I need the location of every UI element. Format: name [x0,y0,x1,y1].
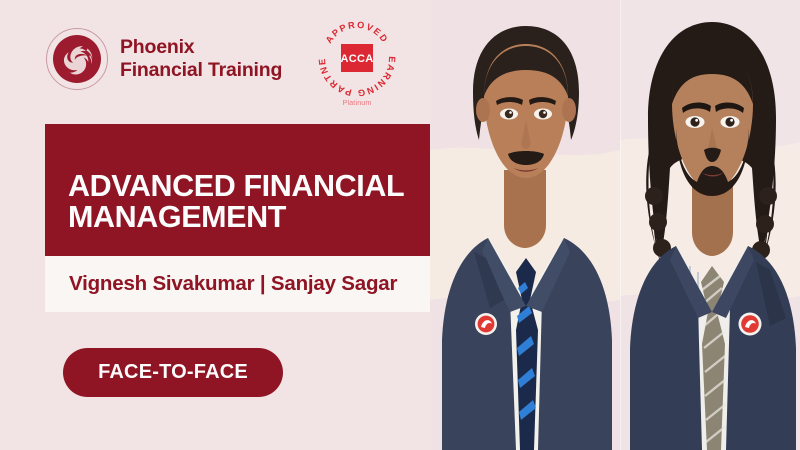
acca-seal-glyph: APPROVED LEARNING PARTNER ACCA [313,14,401,102]
instructor-band: Vignesh Sivakumar | Sanjay Sagar [45,256,430,312]
instructor-names: Vignesh Sivakumar | Sanjay Sagar [69,272,397,296]
svg-text:APPROVED: APPROVED [324,20,391,45]
delivery-mode-badge[interactable]: FACE-TO-FACE [63,348,283,397]
promo-banner: Phoenix Financial Training APPROVED LEAR… [0,0,800,450]
photo-seam-divider [620,0,621,450]
portrait-photo-instructor-2 [620,0,800,450]
acca-tier-label: Platinum [313,100,401,107]
portrait-2-artwork [620,0,800,450]
phoenix-bird-icon [46,28,108,90]
left-content-panel: Phoenix Financial Training APPROVED LEAR… [0,0,470,450]
brand-name-line-2: Financial Training [120,59,282,81]
course-title-line-2: MANAGEMENT [68,202,426,234]
instructor-photo-panel [430,0,800,450]
acca-arc-top-text: APPROVED [324,20,391,45]
brand-name-line-1: Phoenix [120,36,194,58]
brand-lockup[interactable]: Phoenix Financial Training [46,28,282,90]
portrait-1-artwork [430,0,620,450]
brand-name: Phoenix Financial Training [120,36,282,82]
course-title-banner: ADVANCED FINANCIAL MANAGEMENT [45,124,436,256]
acca-center-label: ACCA [341,53,374,65]
delivery-mode-label: FACE-TO-FACE [98,361,248,384]
course-title-line-1: ADVANCED FINANCIAL [68,171,426,203]
course-title: ADVANCED FINANCIAL MANAGEMENT [68,171,426,234]
phoenix-bird-glyph [53,35,101,83]
acca-approved-learning-partner-seal-icon: APPROVED LEARNING PARTNER ACCA Platinum [313,14,407,114]
portrait-photo-instructor-1 [430,0,620,450]
